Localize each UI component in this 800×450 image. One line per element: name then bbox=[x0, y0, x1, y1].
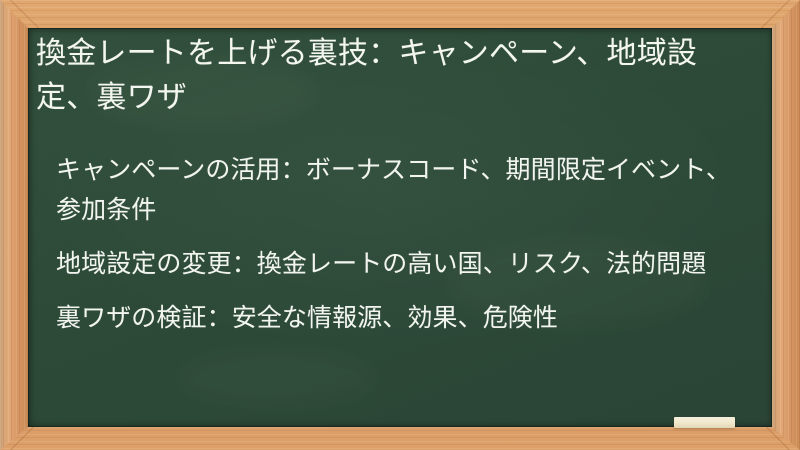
slide-bullet-item: 地域設定の変更：換金レートの高い国、リスク、法的問題 bbox=[56, 244, 746, 284]
wood-frame-right-rail bbox=[772, 0, 800, 450]
slide-bullet-item: 裏ワザの検証：安全な情報源、効果、危険性 bbox=[56, 298, 746, 338]
slide-bullet-item: キャンペーンの活用：ボーナスコード、期間限定イベント、参加条件 bbox=[56, 150, 746, 230]
chalkboard-surface: 換金レートを上げる裏技：キャンペーン、地域設定、裏ワザ キャンペーンの活用：ボー… bbox=[28, 28, 772, 427]
chalkboard-slide: 換金レートを上げる裏技：キャンペーン、地域設定、裏ワザ キャンペーンの活用：ボー… bbox=[0, 0, 800, 450]
chalk-stick bbox=[674, 417, 735, 428]
slide-bullet-list: キャンペーンの活用：ボーナスコード、期間限定イベント、参加条件 地域設定の変更：… bbox=[56, 150, 746, 338]
chalk-smudge bbox=[178, 348, 378, 408]
wood-frame-left-rail bbox=[0, 0, 28, 450]
slide-title: 換金レートを上げる裏技：キャンペーン、地域設定、裏ワザ bbox=[36, 32, 736, 120]
